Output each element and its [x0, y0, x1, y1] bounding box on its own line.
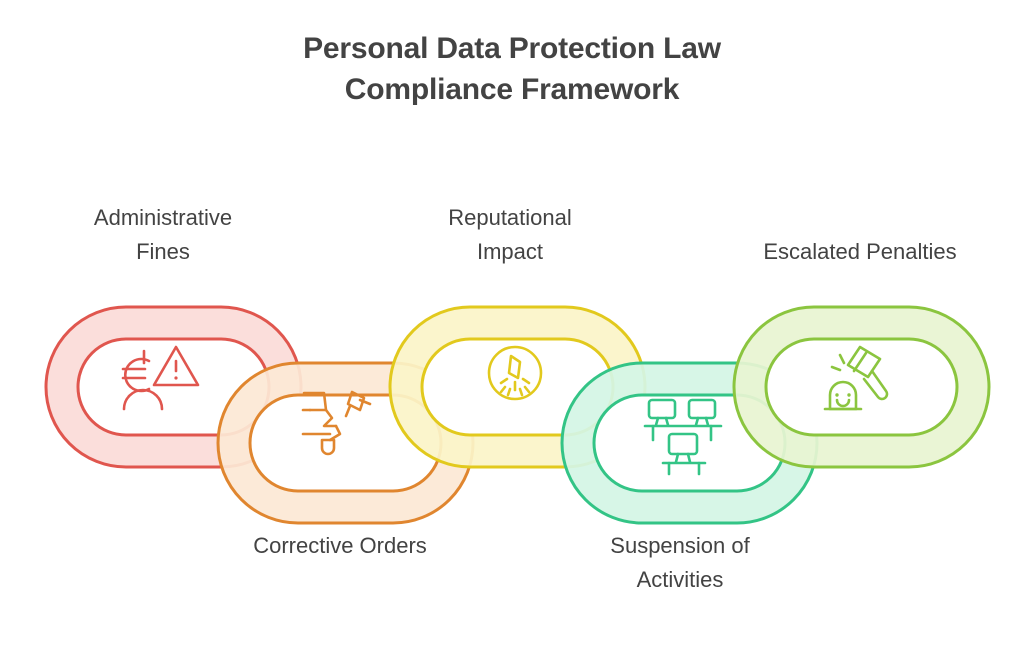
link-label-administrative-fines: Administrative Fines — [28, 201, 298, 269]
diagram-root: Personal Data Protection Law Compliance … — [0, 0, 1024, 648]
chain-diagram: Administrative Fines Corrective Orders R… — [0, 0, 1024, 648]
chain-graphic — [0, 0, 1024, 648]
link-label-corrective-orders: Corrective Orders — [205, 529, 475, 563]
link-label-suspension-of-activities: Suspension of Activities — [545, 529, 815, 597]
link-label-escalated-penalties: Escalated Penalties — [715, 235, 1005, 269]
link-band-inner-4 — [766, 339, 957, 435]
link-label-reputational-impact: Reputational Impact — [375, 201, 645, 269]
chain-link-escalated-penalties[interactable] — [734, 307, 989, 467]
